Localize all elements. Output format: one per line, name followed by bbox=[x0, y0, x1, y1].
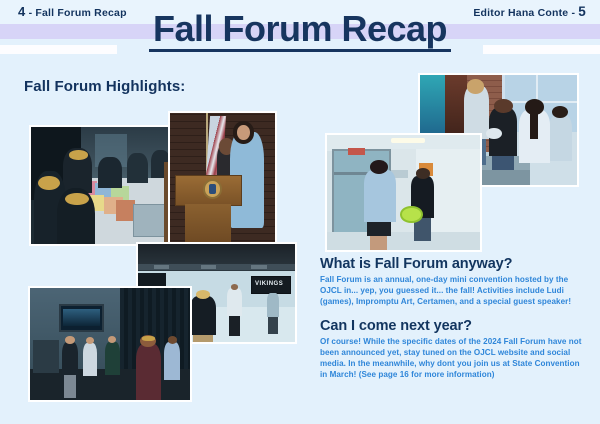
photo-hall-frisbee bbox=[400, 206, 422, 223]
photo-class-foreground-student bbox=[136, 344, 162, 400]
photo-class-student-4-head bbox=[168, 336, 178, 344]
photo-gym-player-2 bbox=[227, 288, 241, 315]
photo-class-student-3 bbox=[105, 342, 119, 376]
photo-craft-supplies-box bbox=[116, 200, 135, 221]
photo-hallway-frisbee bbox=[327, 135, 480, 250]
photo-craft-marker-bin bbox=[133, 204, 167, 236]
photo-steps-person-1-head bbox=[467, 79, 484, 93]
photo-steps-person-3-ponytail bbox=[530, 110, 538, 139]
photo-class-student-1-legs bbox=[64, 375, 77, 397]
photo-craft-student-4 bbox=[98, 157, 121, 187]
photo-classroom-session bbox=[30, 288, 190, 400]
photo-gym-banner: VIKINGS bbox=[251, 276, 291, 294]
photo-class-student-1-head bbox=[65, 336, 75, 344]
highlights-heading: Fall Forum Highlights: bbox=[24, 78, 185, 95]
photo-hall-student-1-shorts bbox=[367, 220, 391, 236]
article-body-can-i-come-next-year: Of course! While the specific dates of t… bbox=[320, 336, 586, 381]
photo-class-tv-screen bbox=[59, 304, 105, 333]
photo-hall-student-2-head bbox=[416, 168, 430, 178]
photo-gym-player-3-legs bbox=[268, 315, 277, 335]
photo-class-cabinet bbox=[33, 340, 59, 374]
photo-steps-artwork-1 bbox=[420, 75, 445, 143]
photo-podium-speaker-face bbox=[237, 125, 250, 140]
photo-gym-banner-text: VIKINGS bbox=[255, 281, 283, 287]
photo-steps-person-4-head bbox=[552, 106, 568, 118]
page-title: Fall Forum Recap bbox=[149, 10, 451, 52]
photo-hall-exit-sign bbox=[348, 148, 365, 155]
photo-hall-student-1 bbox=[364, 170, 396, 223]
masthead: Fall Forum Recap bbox=[0, 10, 600, 52]
article-column: What is Fall Forum anyway? Fall Forum is… bbox=[320, 256, 586, 380]
magazine-page: 4 - Fall Forum Recap Editor Hana Conte -… bbox=[0, 0, 600, 424]
photo-steps-held-object bbox=[486, 128, 502, 139]
photo-gym-vent-2 bbox=[201, 265, 217, 270]
photo-guest-speaker bbox=[170, 113, 275, 247]
photo-gym-player-1 bbox=[190, 296, 217, 335]
photo-gym-vent-1 bbox=[154, 265, 170, 270]
article-body-what-is-fall-forum: Fall Forum is an annual, one-day mini co… bbox=[320, 274, 586, 308]
photo-craft-laurel-3 bbox=[69, 150, 88, 159]
photo-steps-person-4 bbox=[549, 115, 573, 161]
photo-class-foreground-laurel bbox=[142, 336, 155, 340]
article-heading-can-i-come-next-year: Can I come next year? bbox=[320, 318, 586, 334]
photo-craft-student-5 bbox=[127, 153, 147, 183]
article-heading-what-is-fall-forum: What is Fall Forum anyway? bbox=[320, 256, 586, 272]
photo-gym-player-3 bbox=[267, 293, 280, 317]
photo-gym-vent-3 bbox=[251, 265, 267, 270]
photo-impromptu-art bbox=[31, 127, 177, 244]
photo-podium-lectern-base bbox=[185, 204, 231, 247]
photo-class-student-2 bbox=[83, 343, 97, 377]
photo-hall-ceiling-light bbox=[391, 138, 425, 143]
photo-gym-player-2-legs bbox=[229, 313, 240, 337]
photo-hall-floor bbox=[327, 232, 480, 250]
photo-hall-student-1-legs bbox=[370, 235, 387, 250]
photo-class-student-4 bbox=[164, 342, 180, 380]
photo-class-student-2-head bbox=[86, 337, 94, 344]
photo-steps-person-1 bbox=[464, 86, 489, 139]
photo-podium-seal bbox=[203, 179, 223, 199]
photo-class-student-1 bbox=[62, 342, 78, 380]
photo-gym-player-1-head bbox=[196, 290, 210, 299]
